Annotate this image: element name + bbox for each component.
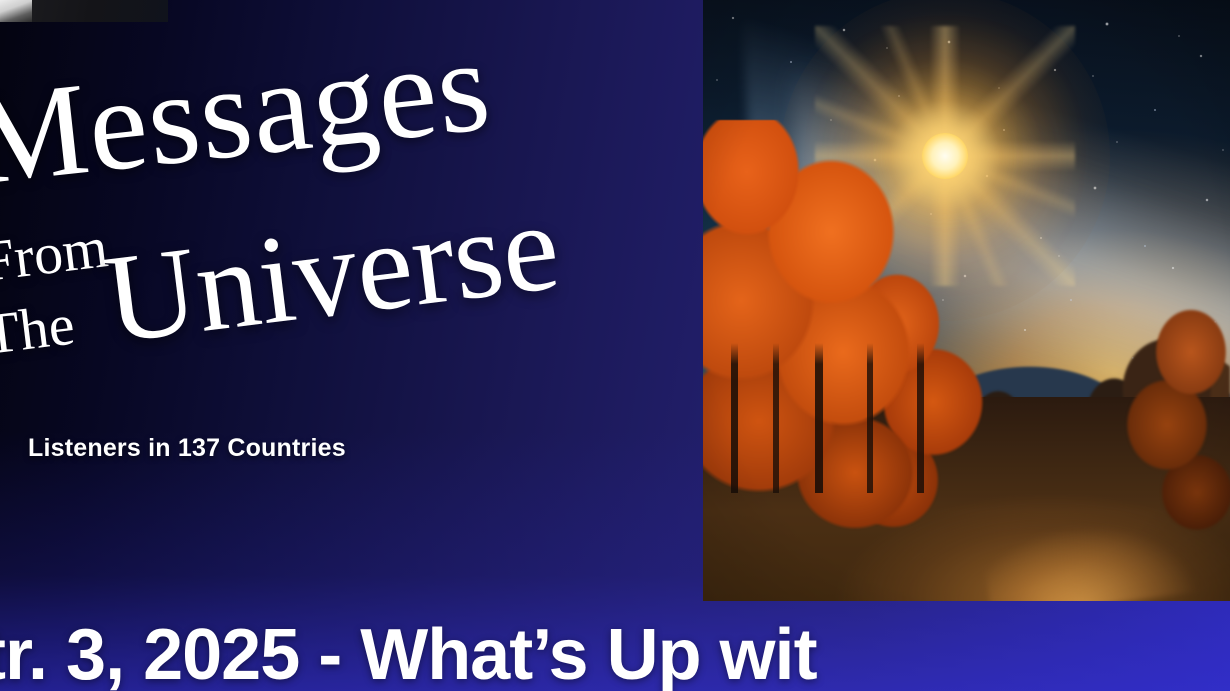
subtitle-listeners-count: Listeners in 137 Countries <box>28 434 346 463</box>
autumn-forest-starry-night-image <box>703 0 1230 601</box>
title-from: From <box>0 218 111 291</box>
lower-third-episode-title: tr. 3, 2025 - What’s Up wit <box>0 619 817 691</box>
overlay-thumbnail-image <box>0 0 32 22</box>
slide-canvas: Messages From The Universe Listeners in … <box>0 0 1230 691</box>
image-vignette <box>703 0 1230 601</box>
video-thumbnail-overlay[interactable] <box>0 0 168 22</box>
title-the: The <box>0 295 77 364</box>
